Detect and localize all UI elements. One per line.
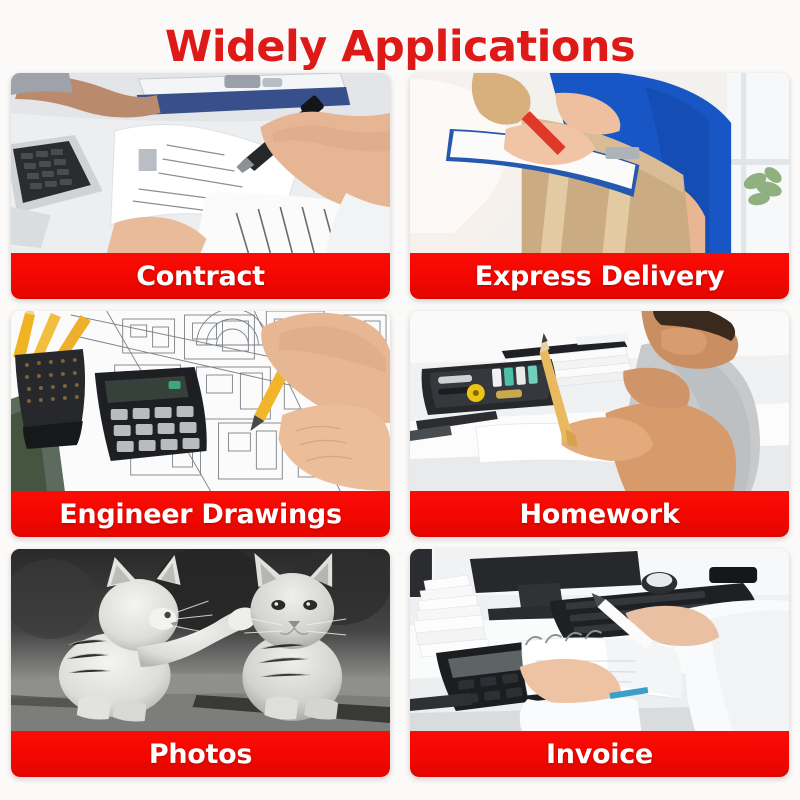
application-card-homework[interactable]: Homework <box>410 311 789 537</box>
card-label-homework: Homework <box>410 491 789 537</box>
application-card-engineer-drawings[interactable]: Engineer Drawings <box>11 311 390 537</box>
application-card-invoice[interactable]: Invoice <box>410 549 789 777</box>
engineer-drawings-image <box>11 311 390 491</box>
application-card-express-delivery[interactable]: Express Delivery <box>410 73 789 299</box>
contract-illustration <box>11 73 390 253</box>
card-label-engineer-drawings: Engineer Drawings <box>11 491 390 537</box>
applications-grid: Contract <box>0 73 800 777</box>
card-label-invoice: Invoice <box>410 731 789 777</box>
homework-image <box>410 311 789 491</box>
contract-image <box>11 73 390 253</box>
invoice-illustration <box>410 549 789 731</box>
photos-illustration <box>11 549 390 731</box>
homework-illustration <box>410 311 789 491</box>
engineer-drawings-illustration <box>11 311 390 491</box>
express-delivery-illustration <box>410 73 789 253</box>
card-label-contract: Contract <box>11 253 390 299</box>
express-delivery-image <box>410 73 789 253</box>
invoice-image <box>410 549 789 731</box>
application-card-photos[interactable]: Photos <box>11 549 390 777</box>
photos-image <box>11 549 390 731</box>
page-title: Widely Applications <box>0 0 800 73</box>
card-label-express-delivery: Express Delivery <box>410 253 789 299</box>
application-card-contract[interactable]: Contract <box>11 73 390 299</box>
card-label-photos: Photos <box>11 731 390 777</box>
